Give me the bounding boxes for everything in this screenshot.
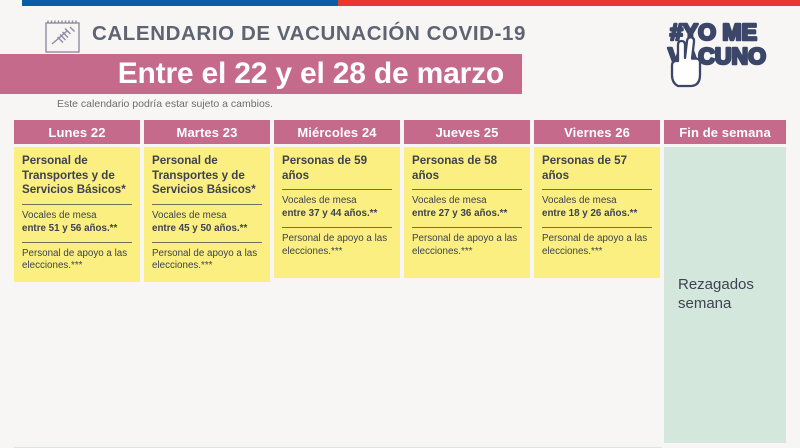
vocales-label: Vocales de mesa — [542, 195, 652, 208]
group-title: Personas de 57 años — [542, 154, 652, 183]
vocales-range: entre 18 y 26 años.** — [542, 208, 652, 221]
support-text: Personal de apoyo a las elecciones.*** — [22, 248, 132, 273]
day-header-miercoles: Miércoles 24 — [274, 120, 400, 144]
calendar-column-weekend: Fin de semana Rezagados semana — [664, 120, 786, 443]
divider — [22, 204, 132, 205]
weekend-text: Rezagados semana — [678, 276, 786, 314]
date-range-band: Entre el 22 y el 28 de marzo — [0, 54, 522, 94]
divider — [282, 227, 392, 228]
calendar-columns: Lunes 22 Personal de Transportes y de Se… — [14, 120, 786, 443]
day-header-lunes: Lunes 22 — [14, 120, 140, 144]
support-text: Personal de apoyo a las elecciones.*** — [282, 233, 392, 258]
vocales-range-text: entre 37 y 44 años.** — [282, 208, 377, 219]
day-header-weekend: Fin de semana — [664, 120, 786, 144]
day-body-lunes: Personal de Transportes y de Servicios B… — [14, 147, 140, 282]
day-body-viernes: Personas de 57 años Vocales de mesa entr… — [534, 147, 660, 278]
day-body-martes: Personal de Transportes y de Servicios B… — [144, 147, 270, 282]
vocales-range-text: entre 18 y 26 años.** — [542, 208, 637, 219]
divider — [412, 189, 522, 190]
support-text: Personal de apoyo a las elecciones.*** — [542, 233, 652, 258]
divider — [542, 227, 652, 228]
vocales-range-text: entre 51 y 56 años.** — [22, 223, 117, 234]
divider — [412, 227, 522, 228]
vocales-range: entre 27 y 36 años.** — [412, 208, 522, 221]
calendar-column-lunes: Lunes 22 Personal de Transportes y de Se… — [14, 120, 140, 282]
calendar-syringe-icon — [40, 16, 86, 56]
group-title: Personas de 59 años — [282, 154, 392, 183]
date-range-text: Entre el 22 y el 28 de marzo — [118, 57, 504, 91]
divider — [282, 189, 392, 190]
subtitle-disclaimer: Este calendario podría estar sujeto a ca… — [57, 98, 273, 110]
weekend-body: Rezagados semana — [664, 147, 786, 443]
divider — [152, 204, 262, 205]
group-title: Personal de Transportes y de Servicios B… — [152, 154, 262, 198]
day-header-jueves: Jueves 25 — [404, 120, 530, 144]
calendar-column-viernes: Viernes 26 Personas de 57 años Vocales d… — [534, 120, 660, 278]
vocales-range-text: entre 45 y 50 años.** — [152, 223, 247, 234]
divider — [542, 189, 652, 190]
divider — [22, 242, 132, 243]
group-title: Personal de Transportes y de Servicios B… — [22, 154, 132, 198]
vocales-range: entre 45 y 50 años.** — [152, 223, 262, 236]
vocales-label: Vocales de mesa — [22, 210, 132, 223]
divider — [152, 242, 262, 243]
infographic-page: CALENDARIO DE VACUNACIÓN COVID-19 Entre … — [0, 0, 800, 448]
vocales-label: Vocales de mesa — [152, 210, 262, 223]
page-title: CALENDARIO DE VACUNACIÓN COVID-19 — [92, 22, 526, 46]
page-header: CALENDARIO DE VACUNACIÓN COVID-19 Entre … — [0, 6, 800, 118]
day-body-jueves: Personas de 58 años Vocales de mesa entr… — [404, 147, 530, 278]
day-body-miercoles: Personas de 59 años Vocales de mesa entr… — [274, 147, 400, 278]
support-text: Personal de apoyo a las elecciones.*** — [152, 248, 262, 273]
group-title: Personas de 58 años — [412, 154, 522, 183]
calendar-grid: Lunes 22 Personal de Transportes y de Se… — [14, 120, 786, 448]
vocales-range-text: entre 27 y 36 años.** — [412, 208, 507, 219]
vocales-label: Vocales de mesa — [282, 195, 392, 208]
vocales-label: Vocales de mesa — [412, 195, 522, 208]
vocales-range: entre 37 y 44 años.** — [282, 208, 392, 221]
yo-me-vacuno-logo: #YO ME VACUNO — [664, 14, 782, 90]
day-header-viernes: Viernes 26 — [534, 120, 660, 144]
day-header-martes: Martes 23 — [144, 120, 270, 144]
calendar-column-miercoles: Miércoles 24 Personas de 59 años Vocales… — [274, 120, 400, 278]
vocales-range: entre 51 y 56 años.** — [22, 223, 132, 236]
calendar-column-martes: Martes 23 Personal de Transportes y de S… — [144, 120, 270, 282]
support-text: Personal de apoyo a las elecciones.*** — [412, 233, 522, 258]
calendar-column-jueves: Jueves 25 Personas de 58 años Vocales de… — [404, 120, 530, 278]
